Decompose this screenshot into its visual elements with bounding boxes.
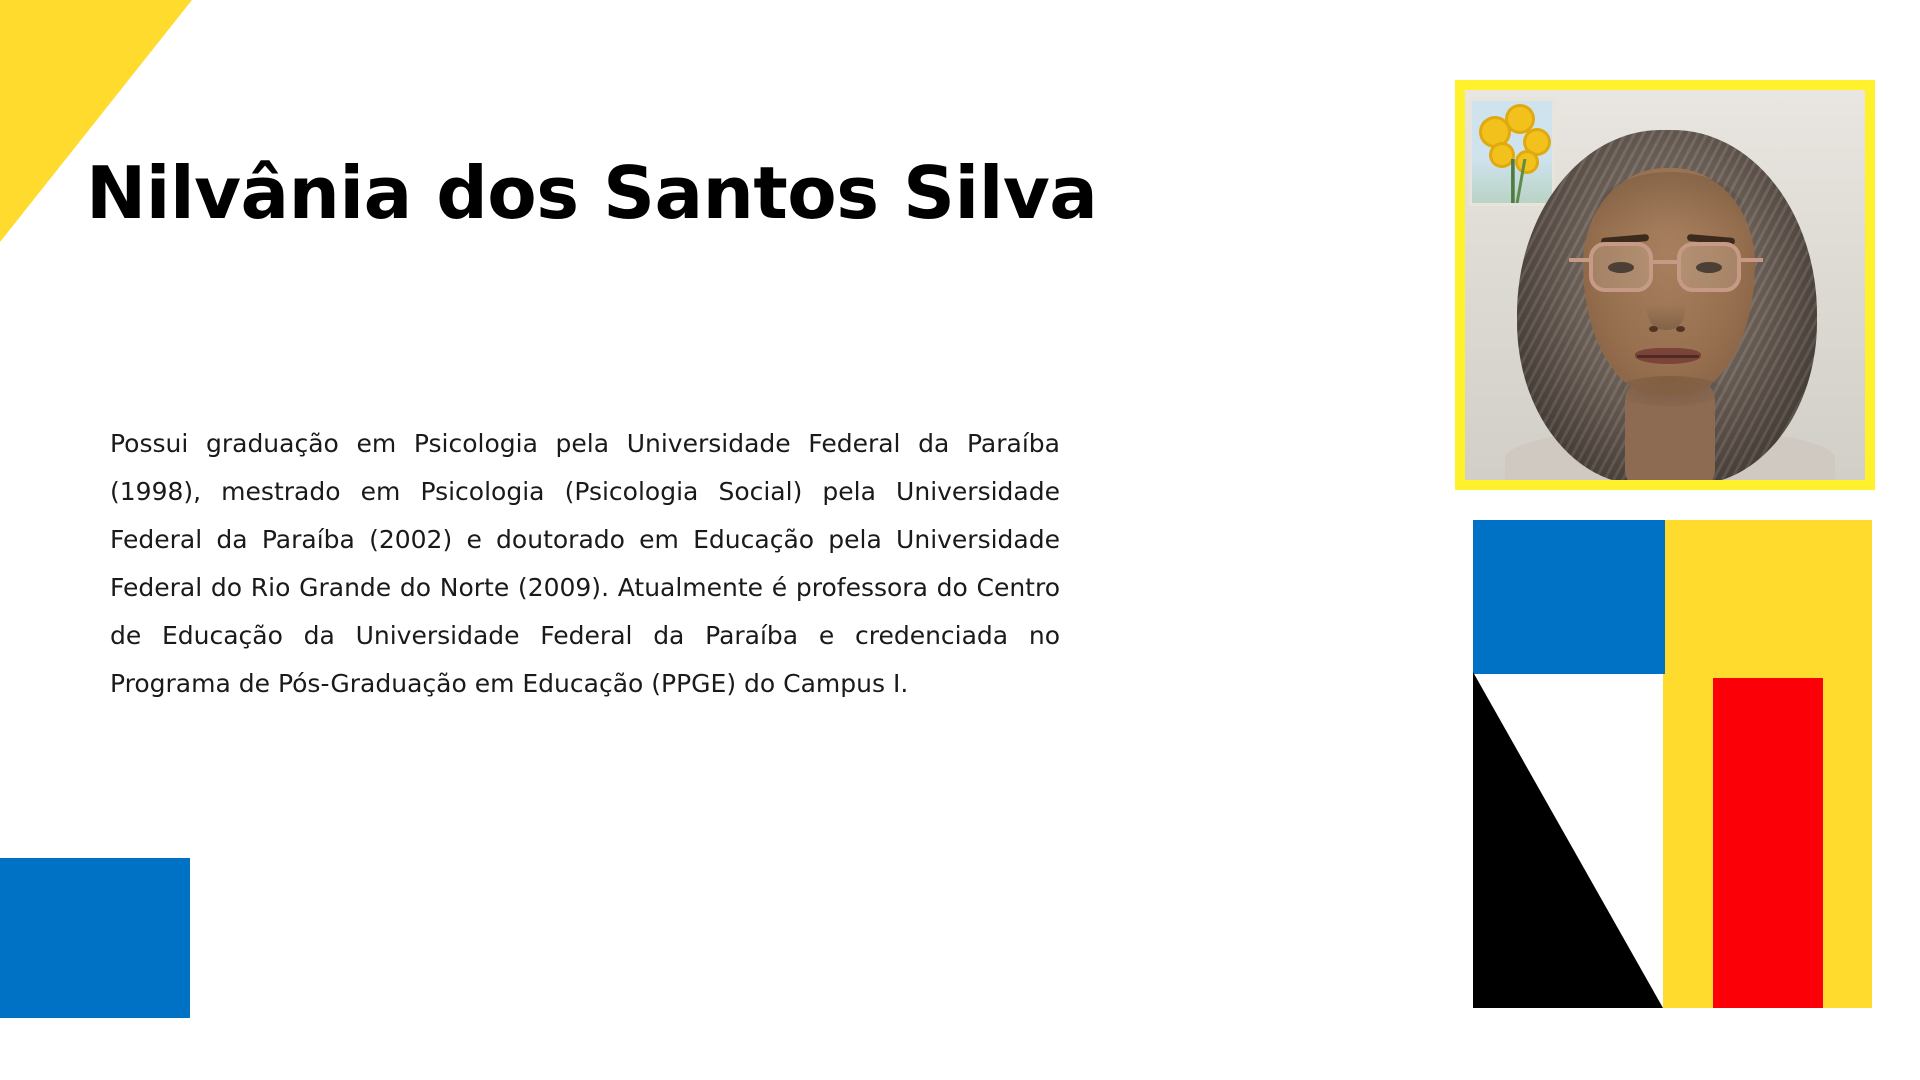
sunflower-icon xyxy=(1526,131,1548,153)
slide-canvas: Nilvânia dos Santos Silva Possui graduaç… xyxy=(0,0,1920,1080)
sunflower-icon xyxy=(1482,119,1508,145)
black-triangle xyxy=(1473,672,1663,1008)
bottom-right-composition xyxy=(1473,520,1872,1008)
eyeglasses-arm-left xyxy=(1569,258,1591,262)
eyeglasses-lens-left xyxy=(1589,242,1653,292)
person-nose xyxy=(1647,286,1685,330)
flower-stems xyxy=(1490,159,1542,205)
person-nostril-right xyxy=(1676,326,1685,332)
eyeglasses-bridge xyxy=(1653,260,1677,264)
red-rectangle xyxy=(1713,678,1823,1008)
eyeglasses-arm-right xyxy=(1741,258,1763,262)
sunflower-icon xyxy=(1508,107,1532,131)
portrait-photo xyxy=(1465,90,1865,480)
page-title: Nilvânia dos Santos Silva xyxy=(86,156,1186,232)
sunflower-picture-icon xyxy=(1469,98,1555,206)
person-lip-line xyxy=(1637,355,1699,358)
blue-rectangle-right xyxy=(1473,520,1665,674)
person-chin-shadow xyxy=(1615,376,1725,406)
blue-rectangle-bottom-left xyxy=(0,858,190,1018)
person-nostril-left xyxy=(1649,326,1658,332)
portrait-frame xyxy=(1455,80,1875,490)
eyeglasses-lens-right xyxy=(1677,242,1741,292)
biography-paragraph: Possui graduação em Psicologia pela Univ… xyxy=(110,420,1060,708)
